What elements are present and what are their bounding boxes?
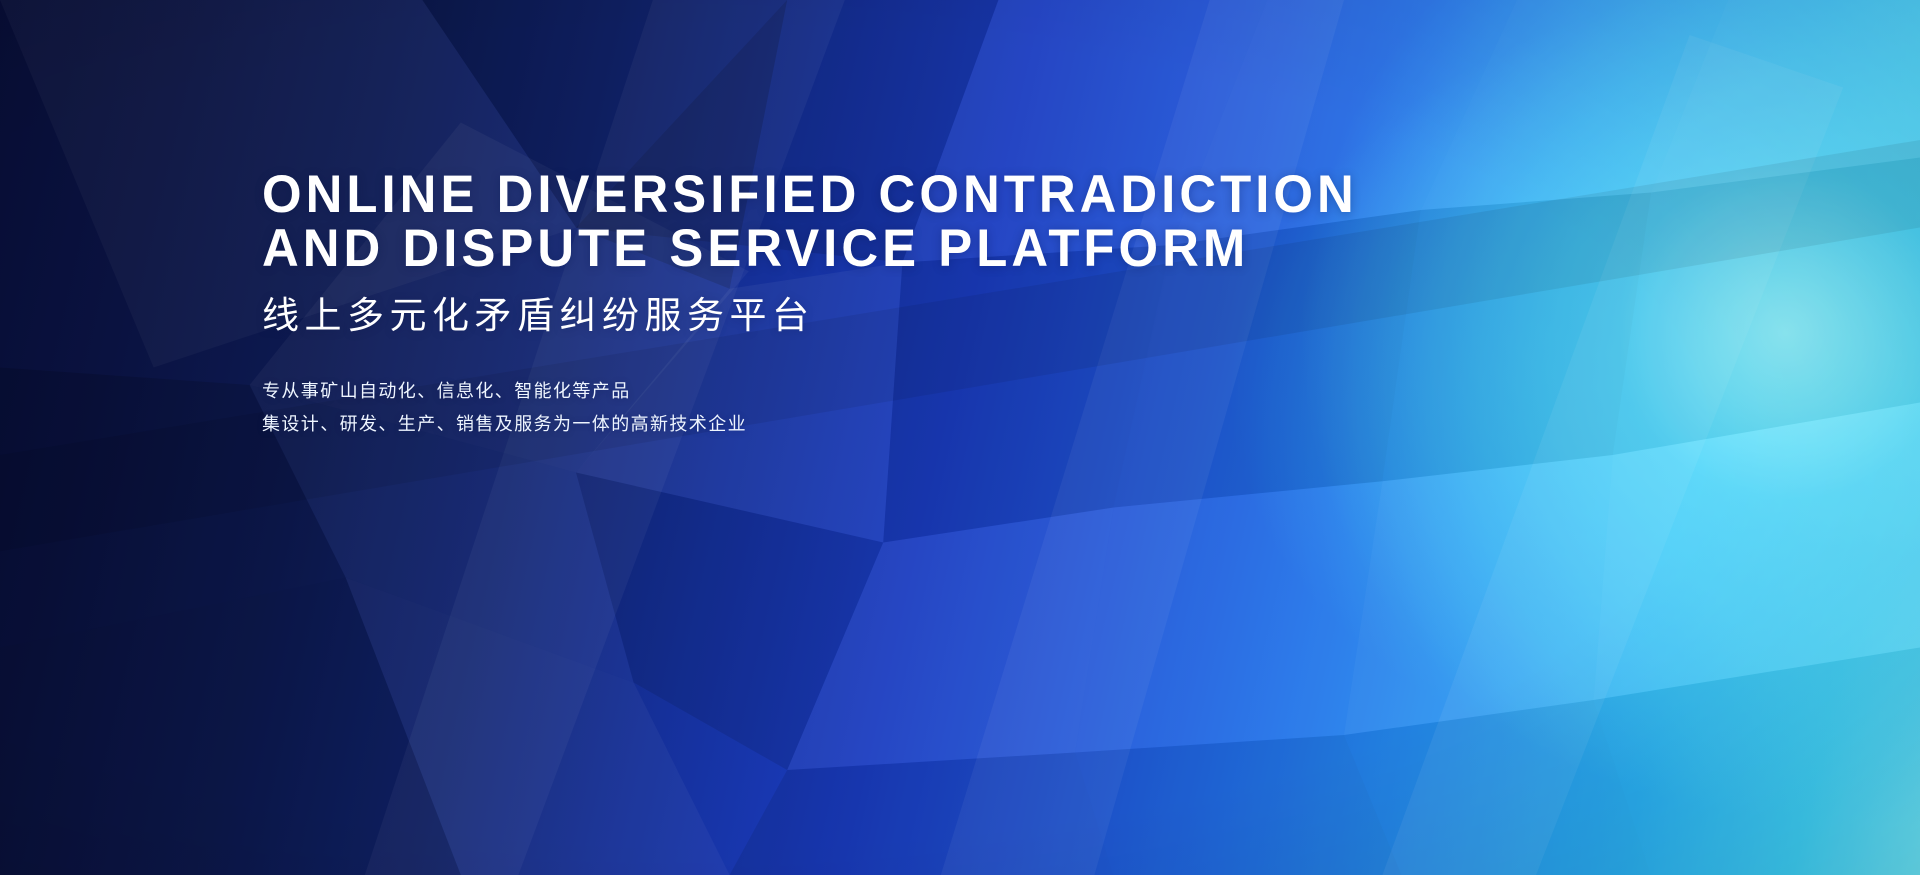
hero-title-english: ONLINE DIVERSIFIED CONTRADICTION AND DIS… xyxy=(262,168,1414,276)
hero-description-line-2: 集设计、研发、生产、销售及服务为一体的高新技术企业 xyxy=(262,408,1462,441)
hero-title-english-line-2: AND DISPUTE SERVICE PLATFORM xyxy=(262,222,1414,276)
hero-title-english-line-1: ONLINE DIVERSIFIED CONTRADICTION xyxy=(262,168,1414,222)
hero-text-block: ONLINE DIVERSIFIED CONTRADICTION AND DIS… xyxy=(262,168,1462,441)
hero-subtitle-chinese: 线上多元化矛盾纠纷服务平台 xyxy=(262,293,1462,339)
hero-description-chinese: 专从事矿山自动化、信息化、智能化等产品 集设计、研发、生产、销售及服务为一体的高… xyxy=(262,375,1462,441)
hero-description-line-1: 专从事矿山自动化、信息化、智能化等产品 xyxy=(262,375,1462,408)
hero-banner: ONLINE DIVERSIFIED CONTRADICTION AND DIS… xyxy=(0,0,1920,875)
